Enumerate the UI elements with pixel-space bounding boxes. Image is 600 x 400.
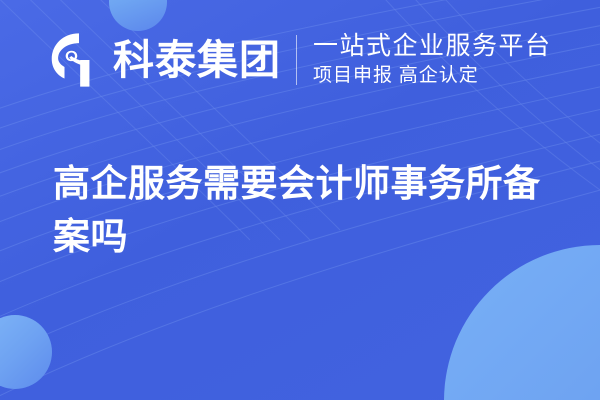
tagline-sub: 项目申报 高企认定 xyxy=(313,64,552,89)
brand-name: 科泰集团 xyxy=(113,40,281,81)
promo-banner: 科泰集团 一站式企业服务平台 项目申报 高企认定 高企服务需要会计师事务所备案吗 xyxy=(0,0,600,400)
tagline-block: 一站式企业服务平台 项目申报 高企认定 xyxy=(313,32,552,88)
vertical-divider xyxy=(296,35,297,85)
page-title: 高企服务需要会计师事务所备案吗 xyxy=(53,158,563,263)
ketai-group-logo-icon xyxy=(50,32,108,88)
tagline-main: 一站式企业服务平台 xyxy=(313,32,552,61)
banner-header: 科泰集团 一站式企业服务平台 项目申报 高企认定 xyxy=(50,28,552,92)
